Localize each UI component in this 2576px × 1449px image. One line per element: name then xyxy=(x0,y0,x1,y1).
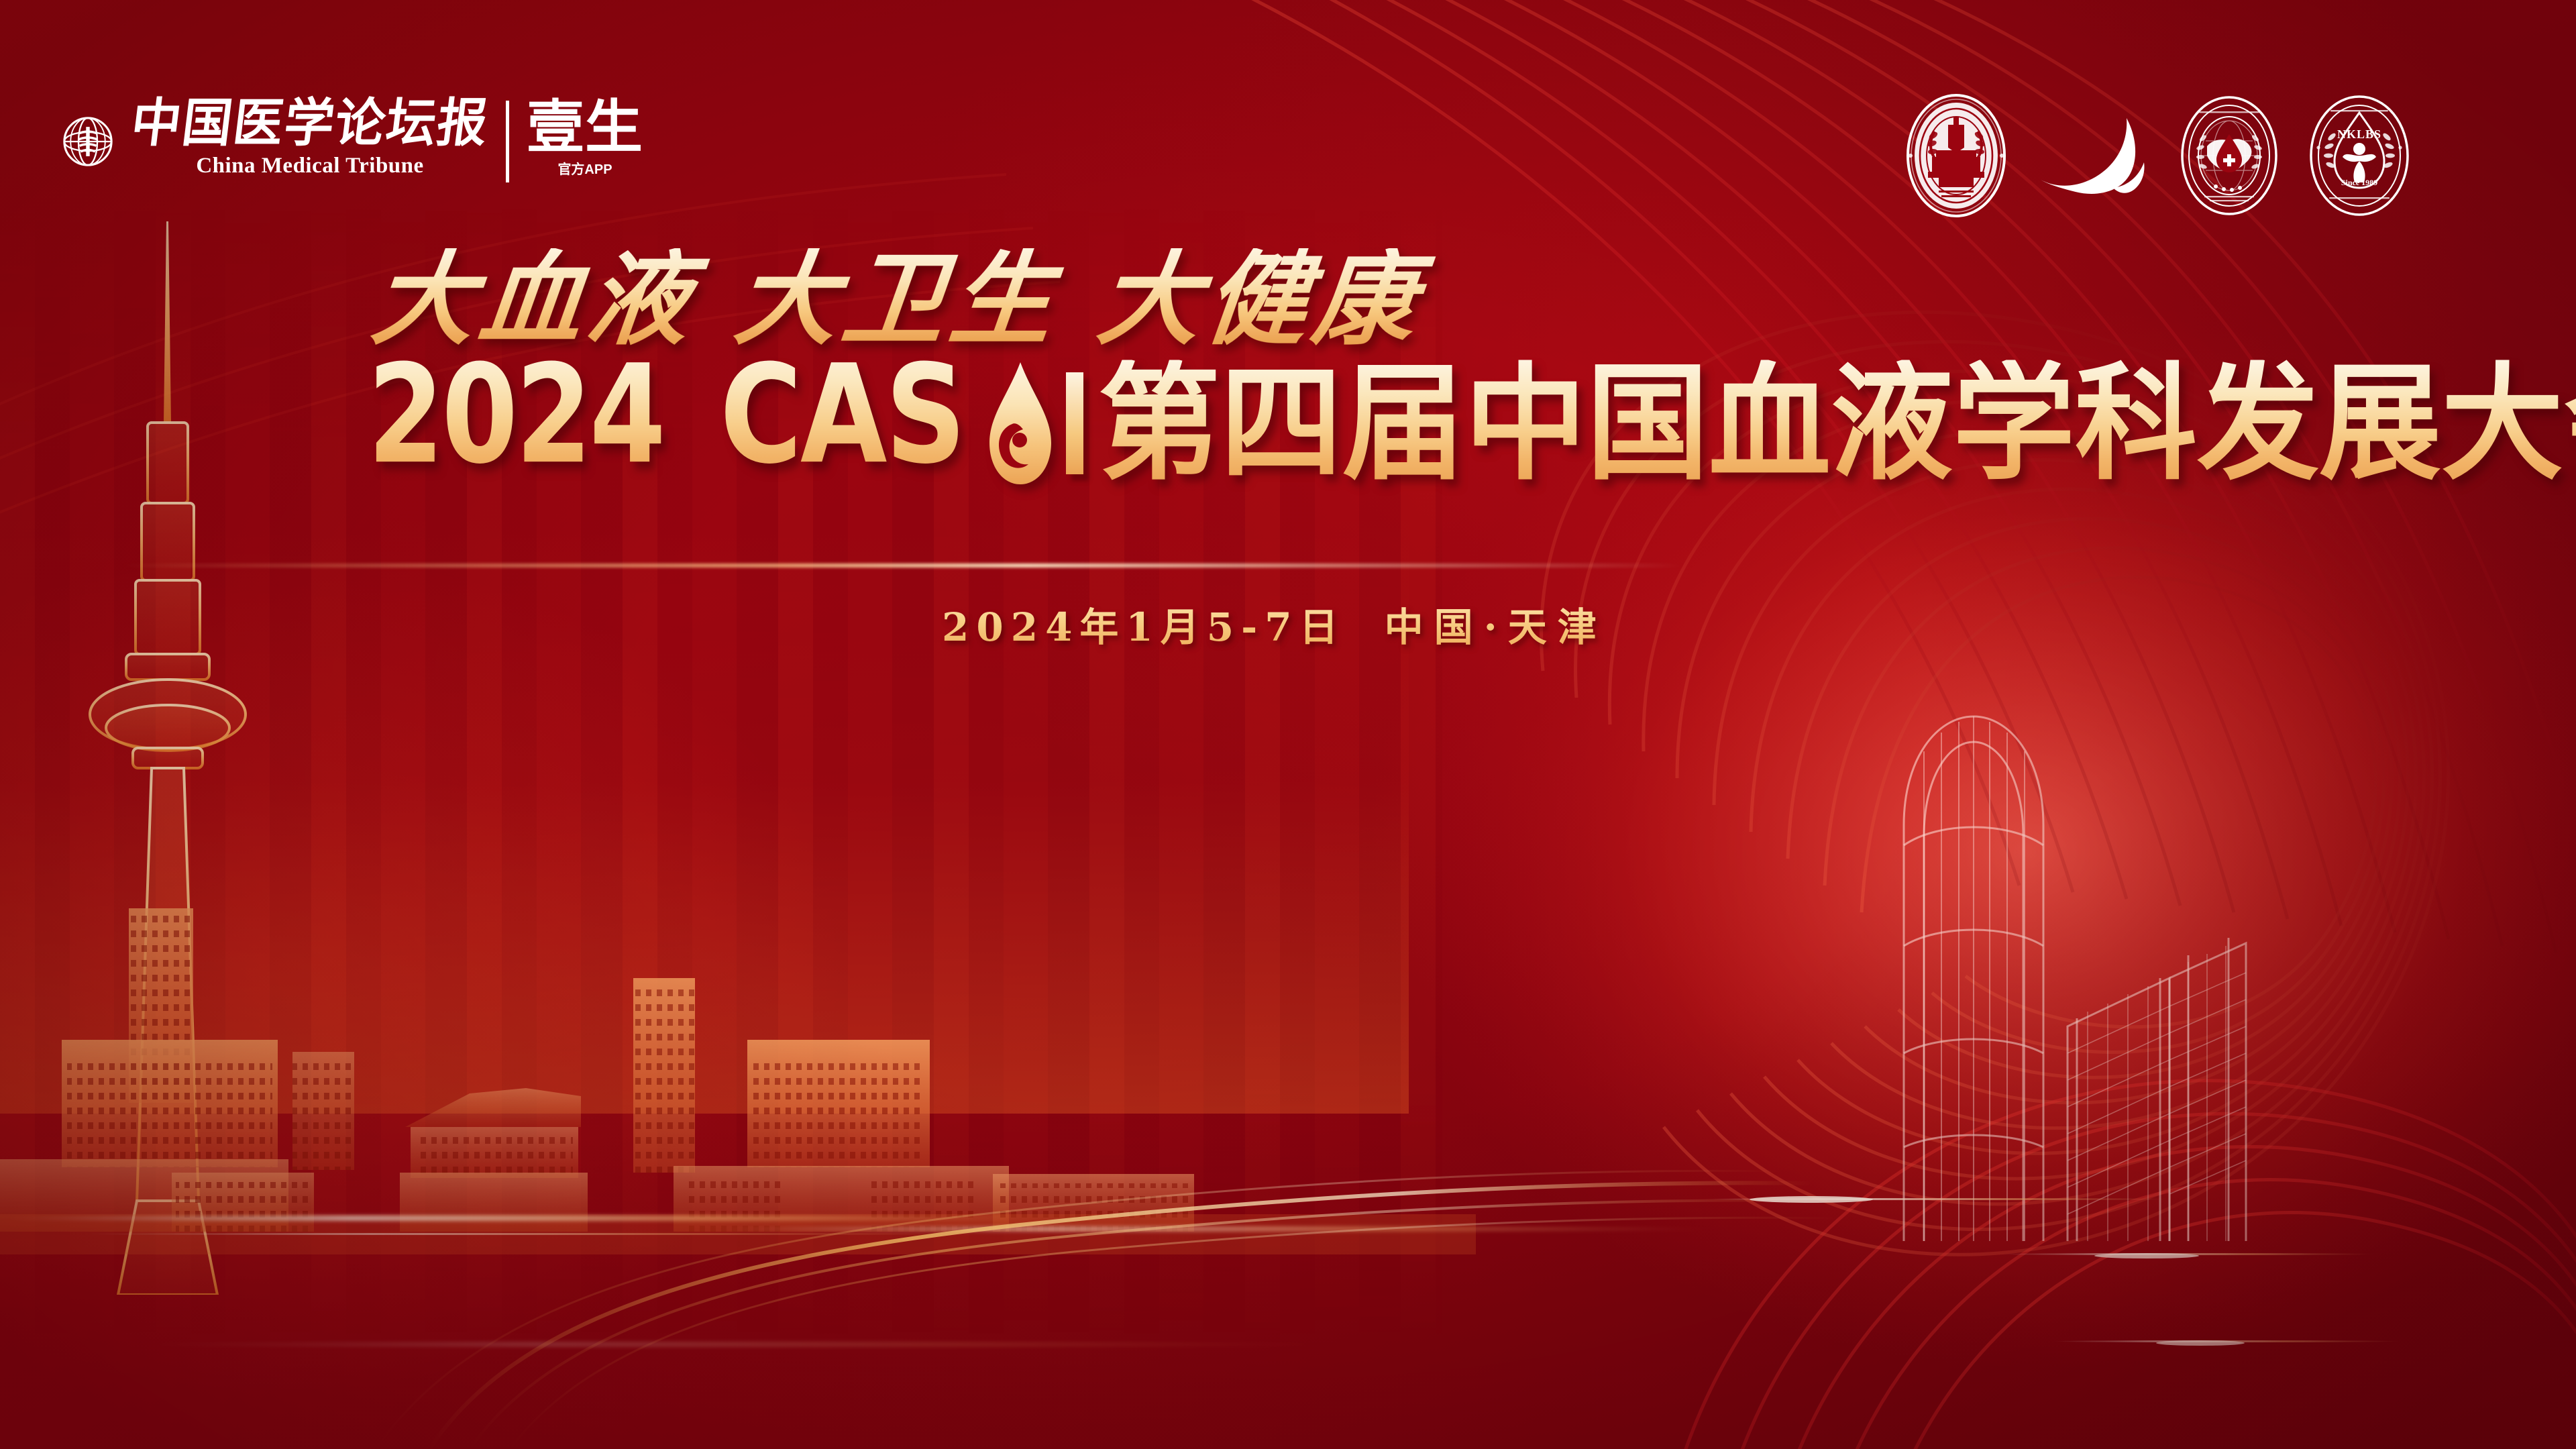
national-key-laboratory-of-blood-science-seal: NKLBS Since 1989 xyxy=(2309,95,2410,216)
nklbs-abbrev: NKLBS xyxy=(2337,127,2381,141)
masthead-logo[interactable]: 中国医学论坛报 China Medical Tribune 壹生 官方APP xyxy=(62,101,643,182)
city-skyline-silhouette-icon xyxy=(0,839,1476,1254)
title-underline-glow xyxy=(121,563,1684,568)
conference-banner: 中国医学论坛报 China Medical Tribune 壹生 官方APP xyxy=(0,0,2576,1449)
swoosh-mark xyxy=(2038,115,2149,196)
event-location: 中国·天津 xyxy=(1385,596,1607,652)
masthead-app-tag: 官方APP xyxy=(557,158,612,178)
title-acronym: CAS xyxy=(720,347,964,483)
masthead-publication-cn: 中国医学论坛报 xyxy=(128,99,491,149)
title-main-cn: 第四届中国血液学科发展大会 xyxy=(1098,360,2576,486)
vertical-divider-icon xyxy=(506,101,509,182)
globe-caduceus-icon xyxy=(62,115,114,168)
headline-block: 大血液 大卫生 大健康 2024 CAS xyxy=(373,248,2576,487)
event-date: 2024年1月5-7日 xyxy=(942,596,1346,652)
masthead-app-name: 壹生 xyxy=(527,101,643,156)
since-label: Since 1989 xyxy=(2341,178,2377,187)
title-year: 2024 xyxy=(368,347,663,483)
masthead-publication-en: China Medical Tribune xyxy=(196,154,423,178)
chinese-academy-of-medical-sciences-seal xyxy=(1905,93,2007,219)
title-separator-bar xyxy=(1066,372,1083,474)
slogan-text: 大血液 大卫生 大健康 xyxy=(368,248,2576,350)
conference-title-row: 2024 CAS 第四届中国血液学科发展大会 xyxy=(368,360,2576,487)
dateline-block: 2024年1月5-7日 中国·天津 xyxy=(942,596,1607,652)
wireframe-skyscrapers-icon xyxy=(1851,678,2402,1241)
national-clinical-research-center-for-blood-diseases-seal xyxy=(2180,95,2278,216)
blood-drop-flame-icon xyxy=(981,360,1059,487)
partner-emblem-row: NKLBS Since 1989 xyxy=(1905,93,2410,219)
tianjin-radio-tv-tower-icon xyxy=(54,221,282,1295)
